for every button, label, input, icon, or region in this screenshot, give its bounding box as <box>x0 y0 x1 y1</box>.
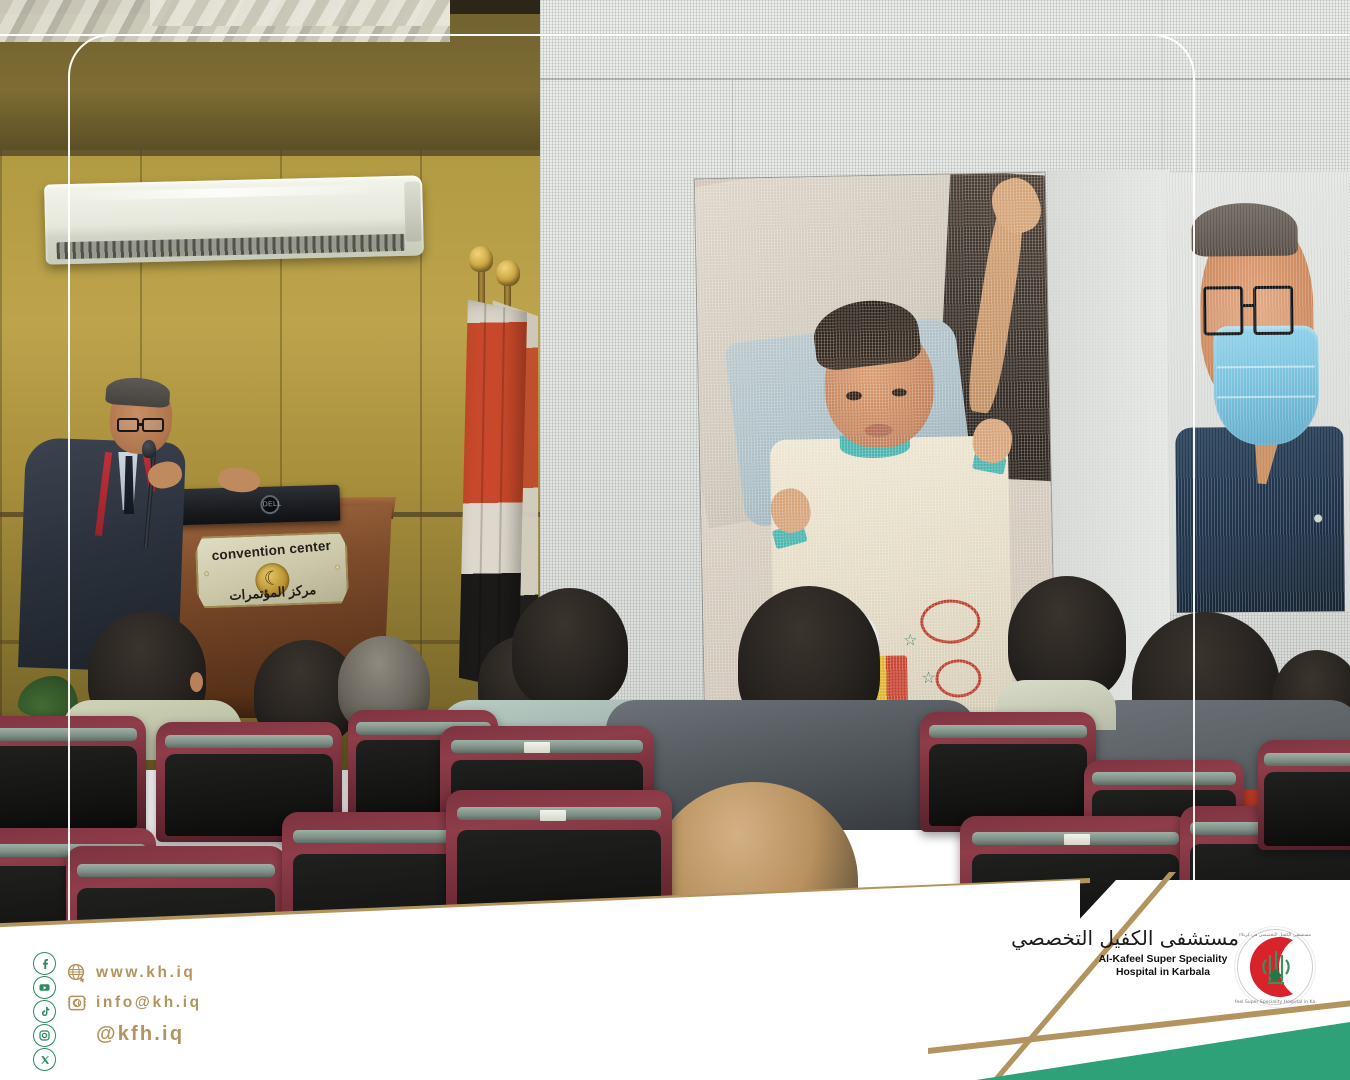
website-row[interactable]: www.kh.iq <box>64 958 202 988</box>
handle-row[interactable]: @kfh.iq <box>64 1018 202 1050</box>
podium-monitor: DELL <box>174 485 341 526</box>
wall-seam <box>0 150 540 156</box>
auditorium-seat <box>1258 740 1350 850</box>
hospital-brand: مستشفى الكفيل التخصصي Al-Kafeel Super Sp… <box>1087 928 1239 979</box>
flagpole-finial <box>469 246 493 272</box>
tiktok-icon[interactable] <box>33 1000 56 1023</box>
hospital-name-line2: Hospital in Karbala <box>1087 967 1239 980</box>
globe-icon <box>64 960 90 986</box>
eyeglass-lens <box>117 418 139 432</box>
website-text: www.kh.iq <box>96 964 195 982</box>
contact-info: www.kh.iq info@kh.iq @kfh.iq <box>64 958 202 1050</box>
dell-logo: DELL <box>260 495 280 515</box>
ac-highlight <box>67 185 370 201</box>
plaque-screw <box>204 571 209 576</box>
eyeglass-bridge <box>139 423 143 426</box>
audience-ear <box>190 672 203 692</box>
instagram-icon[interactable] <box>33 1024 56 1047</box>
ac-grille <box>57 234 405 259</box>
convention-center-plaque: convention center ☾ مركز المؤتمرات <box>195 531 349 608</box>
facebook-icon[interactable] <box>33 952 56 975</box>
audience-head <box>512 588 628 708</box>
plaque-english-text: convention center <box>197 537 346 565</box>
microphone-head <box>142 440 156 458</box>
x-twitter-icon[interactable] <box>33 1048 56 1071</box>
auditorium-seat <box>0 716 146 834</box>
svg-text:Al-Kafeel Super Speciality Hos: Al-Kafeel Super Speciality Hospital in K… <box>1235 999 1315 1005</box>
email-icon <box>64 990 90 1016</box>
ceiling-tile <box>150 0 450 26</box>
poster-canvas: ☆ ☆ <box>0 0 1350 1080</box>
youtube-icon[interactable] <box>33 976 56 999</box>
screen-texture-overlay <box>1166 171 1350 613</box>
air-conditioner-unit <box>44 175 424 264</box>
email-row[interactable]: info@kh.iq <box>64 988 202 1018</box>
ac-side-panel <box>404 181 421 241</box>
social-icons <box>33 952 59 1072</box>
svg-text:مستشفى الكفيل التخصصي في كربلا: مستشفى الكفيل التخصصي في كربلاء <box>1239 932 1312 938</box>
auditorium-seat <box>920 712 1096 832</box>
eyeglass-lens <box>142 418 164 432</box>
hospital-name-line1: Al-Kafeel Super Speciality <box>1087 954 1239 967</box>
hospital-name-english: Al-Kafeel Super Speciality Hospital in K… <box>1087 954 1239 979</box>
slide-masked-clinician <box>1166 171 1350 613</box>
email-text: info@kh.iq <box>96 994 202 1012</box>
plaque-screw <box>335 565 340 570</box>
flagpole-finial <box>496 260 520 286</box>
al-kafeel-red-crescent-emblem: مستشفى الكفيل التخصصي في كربلاء Al-Kafee… <box>1235 927 1315 1007</box>
hospital-name-arabic: مستشفى الكفيل التخصصي <box>1087 928 1239 949</box>
social-handle-text: @kfh.iq <box>96 1023 184 1046</box>
